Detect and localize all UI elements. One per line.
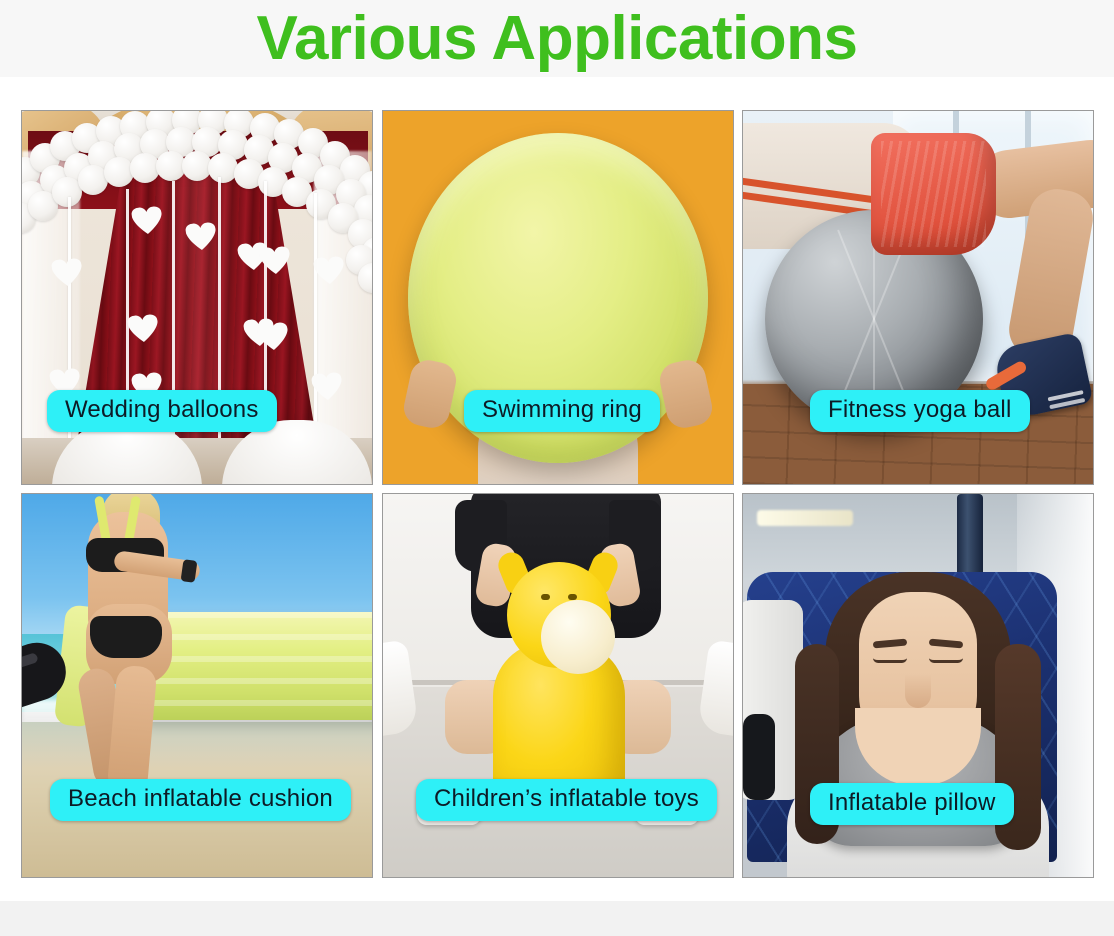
tile-wedding-balloons[interactable]: Wedding balloons [21, 110, 373, 485]
inflatable-bouncy-horse [483, 556, 633, 806]
content-panel: Wedding balloons [0, 77, 1114, 901]
woman-figure [68, 498, 200, 798]
tile-inflatable-pillow[interactable]: Inflatable pillow [742, 493, 1094, 878]
tile-swimming-ring[interactable]: Swimming ring [382, 110, 734, 485]
page-title: Various Applications [0, 2, 1114, 76]
tile-childrens-toys[interactable]: Children’s inflatable toys [382, 493, 734, 878]
tile-beach-cushion[interactable]: Beach inflatable cushion [21, 493, 373, 878]
tile-label-fitness-yoga-ball[interactable]: Fitness yoga ball [810, 390, 1030, 432]
tile-label-beach-cushion[interactable]: Beach inflatable cushion [50, 779, 351, 821]
tile-label-inflatable-pillow[interactable]: Inflatable pillow [810, 783, 1014, 825]
application-gallery-page: Various Applications [0, 0, 1114, 936]
application-tile-grid: Wedding balloons [21, 110, 1094, 878]
header-band: Various Applications [0, 0, 1114, 77]
tile-fitness-yoga-ball[interactable]: Fitness yoga ball [742, 110, 1094, 485]
tile-label-childrens-toys[interactable]: Children’s inflatable toys [416, 779, 717, 821]
tile-label-swimming-ring[interactable]: Swimming ring [464, 390, 660, 432]
tile-label-wedding-balloons[interactable]: Wedding balloons [47, 390, 277, 432]
